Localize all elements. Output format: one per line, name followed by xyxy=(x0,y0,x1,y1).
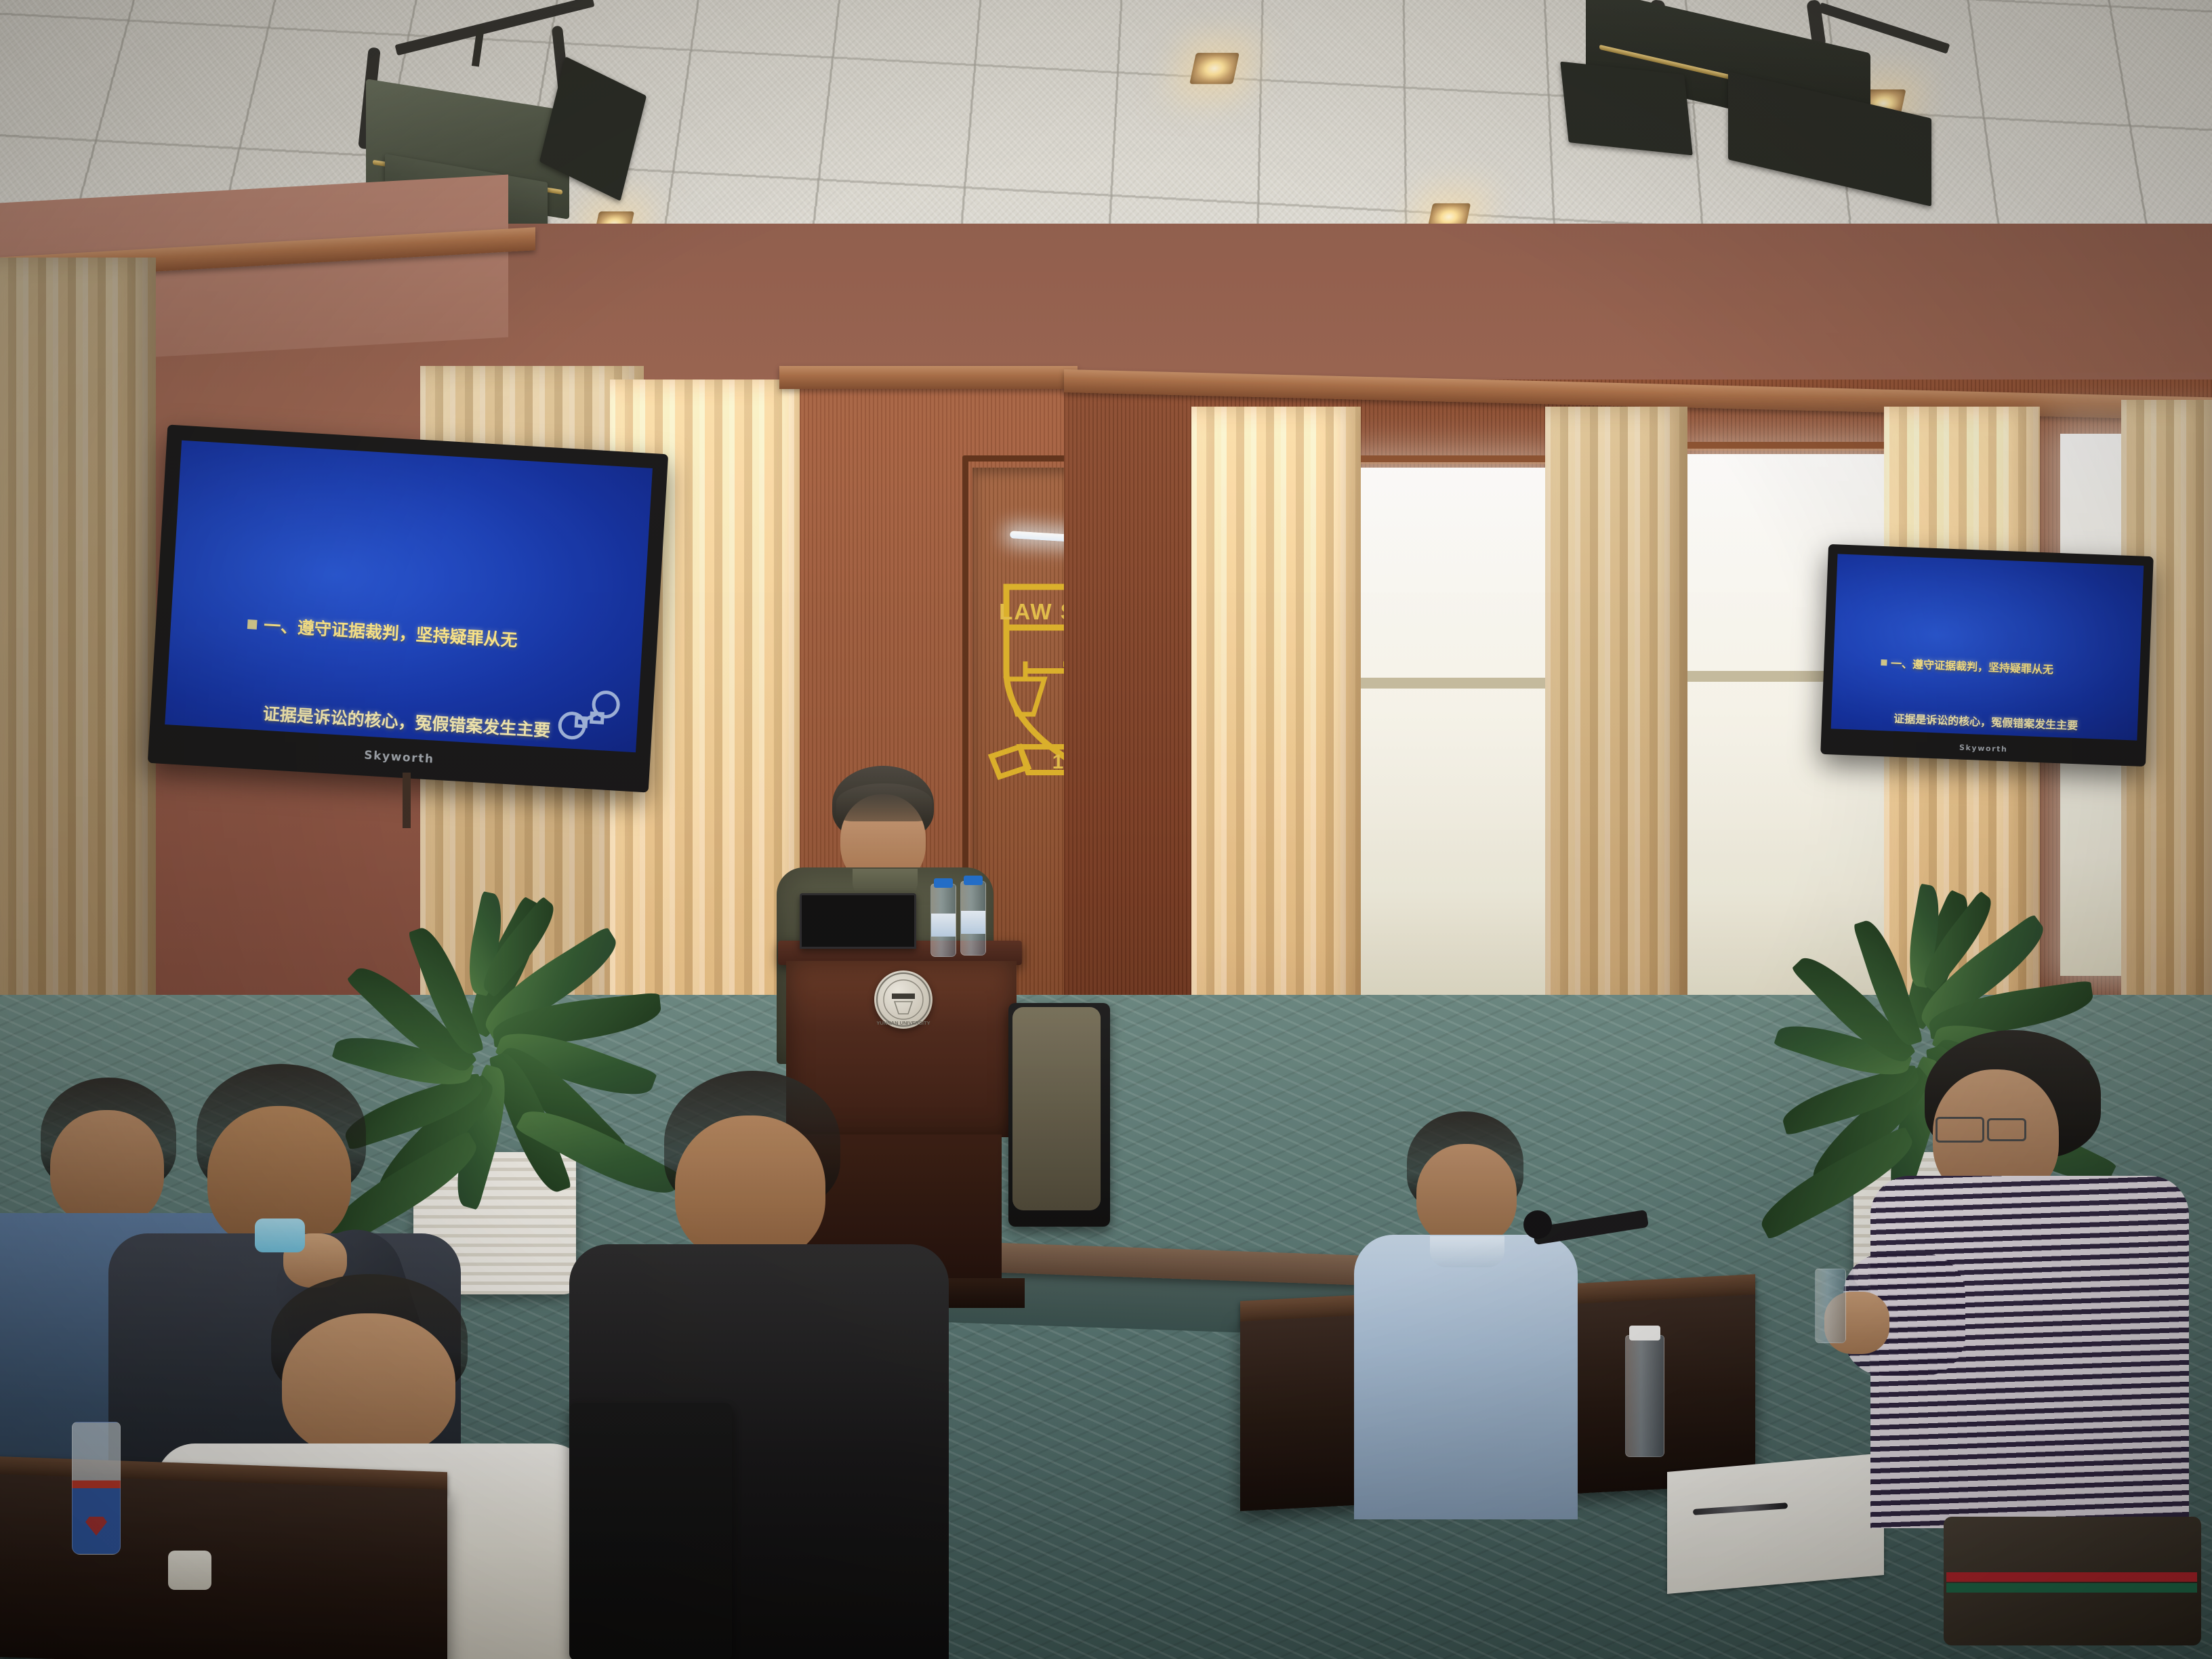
bottle-label xyxy=(931,914,956,937)
left-display[interactable]: 一、遵守证据裁判，坚持疑罪从无 证据是诉讼的核心，冤假错案发生主要 都是未能坚守… xyxy=(148,424,668,792)
slide-bullet-icon xyxy=(247,619,258,630)
bottle-cap-icon xyxy=(1629,1326,1660,1340)
slide-bullet-icon xyxy=(1881,659,1887,665)
right-display-screen: 一、遵守证据裁判，坚持疑罪从无 证据是诉讼的核心，冤假错案发生主要 都是未能坚守… xyxy=(1831,554,2144,740)
podium-seal-label: YUNNAN UNIVERSITY xyxy=(876,1020,930,1026)
head xyxy=(282,1313,455,1457)
glasses-icon xyxy=(1987,1118,2026,1141)
stage-light-right xyxy=(1525,0,1945,203)
microphone-head-icon xyxy=(1523,1210,1552,1239)
audience-member-striped-shirt xyxy=(1870,1030,2212,1659)
slide-heading: 一、遵守证据裁判，坚持疑罪从无 xyxy=(1891,657,2054,676)
water-bottle[interactable] xyxy=(1815,1269,1846,1343)
laptop[interactable] xyxy=(800,893,916,949)
chair[interactable] xyxy=(569,1403,732,1659)
right-display-brand: Skyworth xyxy=(1821,738,2146,759)
face-mask-icon xyxy=(255,1218,305,1252)
lecture-hall-photo: LAW SCHOOL 1931 一、遵守证据裁判，坚持疑罪从无 xyxy=(0,0,2212,1659)
window-mullion xyxy=(1349,678,1552,689)
coat-on-chair xyxy=(1012,1007,1101,1210)
paper-sheet[interactable] xyxy=(1667,1453,1884,1594)
bottle-cap-icon xyxy=(964,876,983,885)
slide-heading: 一、遵守证据裁判，坚持疑罪从无 xyxy=(263,615,518,650)
bag-stripe-green xyxy=(1946,1583,2197,1593)
torso xyxy=(1354,1235,1578,1519)
center-cornice xyxy=(779,366,1078,389)
downlight-icon xyxy=(1189,53,1240,84)
head xyxy=(675,1115,825,1262)
glasses-icon xyxy=(1935,1117,1984,1143)
shirt-collar xyxy=(1430,1236,1504,1267)
left-display-screen: 一、遵守证据裁判，坚持疑罪从无 证据是诉讼的核心，冤假错案发生主要 都是未能坚守… xyxy=(165,441,653,753)
yunnan-university-seal: YUNNAN UNIVERSITY xyxy=(874,970,933,1029)
slide-content-right: 一、遵守证据裁判，坚持疑罪从无 证据是诉讼的核心，冤假错案发生主要 都是未能坚守… xyxy=(1831,614,2135,741)
head xyxy=(1416,1144,1517,1246)
bottle-cap-icon xyxy=(934,878,953,888)
handcuffs-icon xyxy=(555,687,629,746)
window-center-frame xyxy=(1336,455,1564,1022)
speaker-hair-fringe xyxy=(836,783,933,821)
water-bottle[interactable] xyxy=(1625,1335,1664,1457)
cup-lid[interactable] xyxy=(168,1551,211,1590)
right-display[interactable]: 一、遵守证据裁判，坚持疑罪从无 证据是诉讼的核心，冤假错案发生主要 都是未能坚守… xyxy=(1820,544,2154,766)
slide-line: 证据是诉讼的核心，冤假错案发生主要 xyxy=(1841,710,2131,735)
bottle-label xyxy=(961,911,985,934)
audience-member-blue-shirt xyxy=(1342,1111,1586,1586)
left-table xyxy=(0,1473,447,1659)
bag-stripe-red xyxy=(1946,1572,2197,1582)
